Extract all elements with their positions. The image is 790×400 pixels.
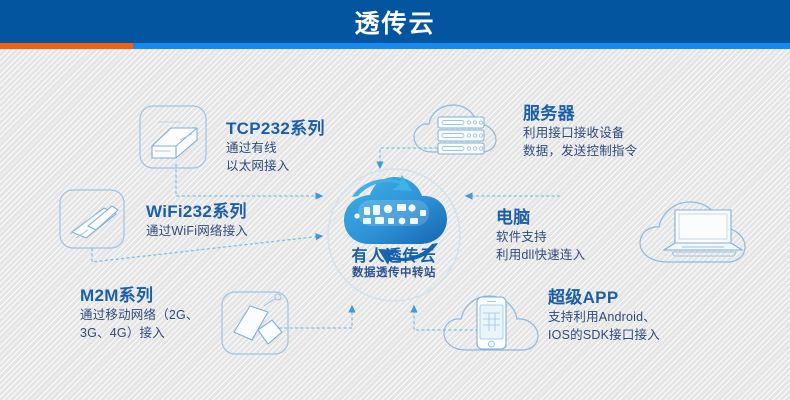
- center-title: 有人透传云: [318, 242, 470, 266]
- node-computer-title: 电脑: [496, 207, 585, 228]
- node-server-title: 服务器: [523, 103, 637, 124]
- wifi-module-device-icon: [60, 190, 124, 248]
- node-m2m-line-2: 3G、4G）接入: [80, 324, 199, 342]
- node-tcp232-line-2: 以太网接入: [226, 157, 325, 175]
- infographic-page: 透传云: [0, 0, 790, 400]
- node-m2m: M2M系列 通过移动网络（2G、 3G、4G）接入: [80, 285, 199, 342]
- node-computer: 电脑 软件支持 利用dll快速连入: [496, 207, 585, 264]
- node-app-line-2: IOS的SDK接口接入: [548, 326, 660, 344]
- node-computer-line-1: 软件支持: [496, 228, 585, 246]
- node-app: 超级APP 支持利用Android、 IOS的SDK接口接入: [548, 287, 660, 344]
- cellular-modem-device-icon: [222, 292, 288, 354]
- node-wifi232: WiFi232系列 通过WiFi网络接入: [146, 201, 248, 240]
- node-tcp232-line-1: 通过有线: [226, 139, 325, 157]
- server-rack-icon: [414, 105, 496, 154]
- node-app-line-1: 支持利用Android、: [548, 308, 660, 326]
- smartphone-icon: [444, 296, 538, 350]
- connector-m2m: [268, 306, 352, 328]
- node-server-line-1: 利用接口接收设备: [523, 124, 637, 142]
- center-subtitle: 数据透传中转站: [318, 264, 470, 280]
- center-node: 有人透传云 数据透传中转站: [318, 168, 470, 303]
- node-server: 服务器 利用接口接收设备 数据，发送控制指令: [523, 103, 637, 160]
- node-tcp232-title: TCP232系列: [226, 118, 325, 139]
- node-computer-line-2: 利用dll快速连入: [496, 246, 585, 264]
- node-tcp232: TCP232系列 通过有线 以太网接入: [226, 118, 325, 175]
- node-m2m-title: M2M系列: [80, 285, 199, 306]
- node-server-line-2: 数据，发送控制指令: [523, 142, 637, 160]
- laptop-icon: [640, 202, 745, 262]
- node-m2m-line-1: 通过移动网络（2G、: [80, 306, 199, 324]
- node-app-title: 超级APP: [548, 287, 660, 308]
- node-wifi232-title: WiFi232系列: [146, 201, 248, 222]
- node-wifi232-line-1: 通过WiFi网络接入: [146, 222, 248, 240]
- serial-server-device-icon: [140, 106, 206, 168]
